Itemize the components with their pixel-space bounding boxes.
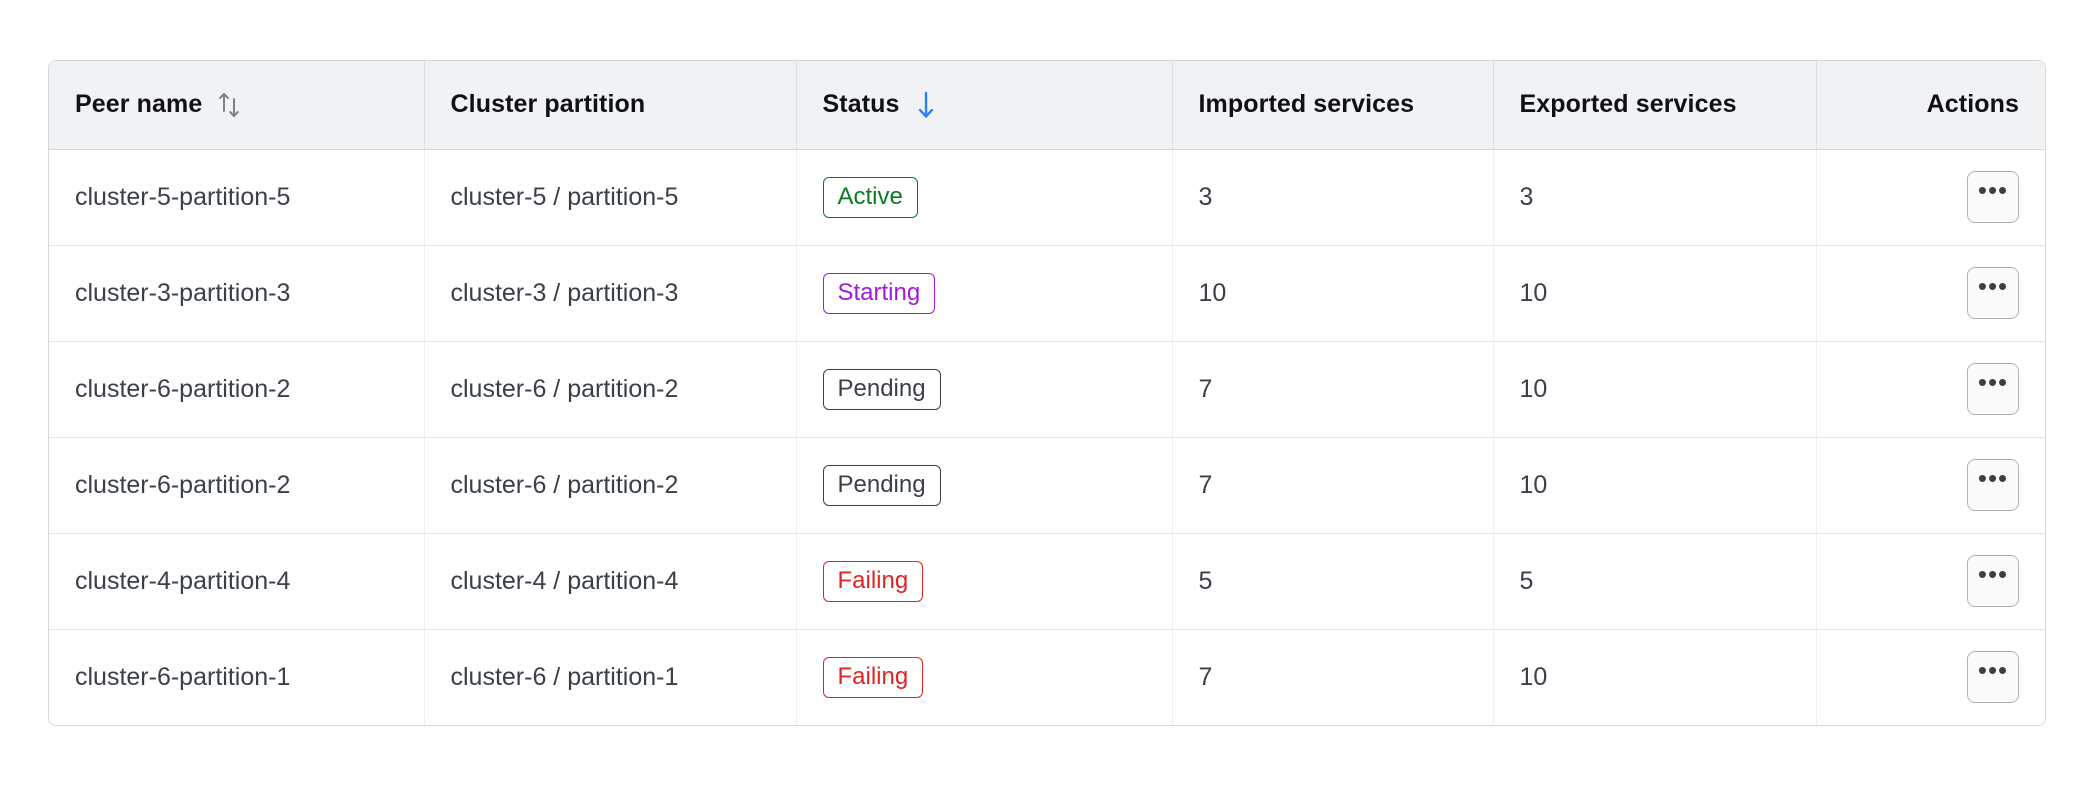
cell-peer-name-text: cluster-6-partition-2	[75, 375, 290, 403]
table-row[interactable]: cluster-5-partition-5cluster-5 / partiti…	[49, 149, 2045, 245]
cell-status: Pending	[796, 437, 1172, 533]
cell-imported-services-text: 7	[1199, 663, 1213, 691]
cell-status: Failing	[796, 533, 1172, 629]
peers-table-container: Peer name	[48, 60, 2046, 726]
row-actions-button[interactable]: •••	[1967, 555, 2019, 607]
cell-cluster-partition: cluster-3 / partition-3	[424, 245, 796, 341]
column-header-imported-services[interactable]: Imported services	[1172, 61, 1493, 149]
cell-cluster-partition: cluster-4 / partition-4	[424, 533, 796, 629]
more-horizontal-icon: •••	[1978, 473, 2008, 483]
cell-cluster-partition-text: cluster-6 / partition-2	[451, 471, 679, 499]
cell-actions: •••	[1816, 533, 2045, 629]
cell-exported-services: 5	[1493, 533, 1816, 629]
cell-peer-name: cluster-6-partition-2	[49, 341, 424, 437]
cell-cluster-partition: cluster-6 / partition-1	[424, 629, 796, 725]
status-badge: Pending	[823, 465, 941, 506]
row-actions-button[interactable]: •••	[1967, 651, 2019, 703]
table-row[interactable]: cluster-6-partition-2cluster-6 / partiti…	[49, 437, 2045, 533]
status-badge: Starting	[823, 273, 936, 314]
status-badge: Pending	[823, 369, 941, 410]
cell-imported-services-text: 3	[1199, 183, 1213, 211]
cell-status: Pending	[796, 341, 1172, 437]
cell-exported-services: 10	[1493, 437, 1816, 533]
column-header-exported-services[interactable]: Exported services	[1493, 61, 1816, 149]
cell-peer-name-text: cluster-6-partition-1	[75, 663, 290, 691]
cell-peer-name: cluster-6-partition-1	[49, 629, 424, 725]
cell-imported-services: 3	[1172, 149, 1493, 245]
column-header-cluster-partition[interactable]: Cluster partition	[424, 61, 796, 149]
column-header-label: Exported services	[1520, 90, 1737, 119]
cell-imported-services-text: 5	[1199, 567, 1213, 595]
cell-peer-name: cluster-3-partition-3	[49, 245, 424, 341]
cell-peer-name-text: cluster-3-partition-3	[75, 279, 290, 307]
cell-cluster-partition-text: cluster-3 / partition-3	[451, 279, 679, 307]
cell-exported-services-text: 10	[1520, 375, 1548, 403]
cell-exported-services: 3	[1493, 149, 1816, 245]
cell-actions: •••	[1816, 245, 2045, 341]
cell-imported-services: 7	[1172, 341, 1493, 437]
column-header-label: Imported services	[1199, 90, 1415, 119]
cell-imported-services-text: 10	[1199, 279, 1227, 307]
cell-peer-name-text: cluster-4-partition-4	[75, 567, 290, 595]
cell-exported-services-text: 10	[1520, 471, 1548, 499]
cell-imported-services-text: 7	[1199, 471, 1213, 499]
cell-imported-services: 10	[1172, 245, 1493, 341]
more-horizontal-icon: •••	[1978, 665, 2008, 675]
cell-cluster-partition: cluster-6 / partition-2	[424, 341, 796, 437]
cell-actions: •••	[1816, 149, 2045, 245]
column-header-actions: Actions	[1816, 61, 2045, 149]
cell-exported-services: 10	[1493, 245, 1816, 341]
more-horizontal-icon: •••	[1978, 377, 2008, 387]
cell-peer-name-text: cluster-6-partition-2	[75, 471, 290, 499]
status-badge: Failing	[823, 561, 924, 602]
cell-exported-services-text: 10	[1520, 279, 1548, 307]
sort-ascending-descending-icon[interactable]	[216, 90, 242, 120]
column-header-label: Cluster partition	[451, 90, 646, 119]
arrow-down-icon[interactable]	[914, 89, 938, 121]
cell-status: Active	[796, 149, 1172, 245]
row-actions-button[interactable]: •••	[1967, 363, 2019, 415]
row-actions-button[interactable]: •••	[1967, 267, 2019, 319]
cell-exported-services: 10	[1493, 629, 1816, 725]
row-actions-button[interactable]: •••	[1967, 171, 2019, 223]
column-header-label: Actions	[1927, 90, 2019, 119]
column-header-status[interactable]: Status	[796, 61, 1172, 149]
more-horizontal-icon: •••	[1978, 569, 2008, 579]
cell-exported-services-text: 10	[1520, 663, 1548, 691]
cell-peer-name: cluster-4-partition-4	[49, 533, 424, 629]
row-actions-button[interactable]: •••	[1967, 459, 2019, 511]
cell-cluster-partition: cluster-6 / partition-2	[424, 437, 796, 533]
column-header-label: Status	[823, 90, 900, 119]
cell-actions: •••	[1816, 437, 2045, 533]
peers-table: Peer name	[49, 61, 2045, 725]
cell-cluster-partition-text: cluster-6 / partition-2	[451, 375, 679, 403]
cell-cluster-partition: cluster-5 / partition-5	[424, 149, 796, 245]
cell-imported-services: 5	[1172, 533, 1493, 629]
cell-peer-name: cluster-6-partition-2	[49, 437, 424, 533]
cell-peer-name-text: cluster-5-partition-5	[75, 183, 290, 211]
cell-cluster-partition-text: cluster-5 / partition-5	[451, 183, 679, 211]
peers-table-page: Peer name	[0, 0, 2096, 808]
cell-exported-services-text: 3	[1520, 183, 1534, 211]
cell-cluster-partition-text: cluster-6 / partition-1	[451, 663, 679, 691]
cell-peer-name: cluster-5-partition-5	[49, 149, 424, 245]
status-badge: Failing	[823, 657, 924, 698]
table-body: cluster-5-partition-5cluster-5 / partiti…	[49, 149, 2045, 725]
table-header: Peer name	[49, 61, 2045, 149]
cell-cluster-partition-text: cluster-4 / partition-4	[451, 567, 679, 595]
cell-exported-services: 10	[1493, 341, 1816, 437]
table-row[interactable]: cluster-6-partition-1cluster-6 / partiti…	[49, 629, 2045, 725]
more-horizontal-icon: •••	[1978, 281, 2008, 291]
column-header-peer-name[interactable]: Peer name	[49, 61, 424, 149]
cell-exported-services-text: 5	[1520, 567, 1534, 595]
cell-imported-services-text: 7	[1199, 375, 1213, 403]
column-header-label: Peer name	[75, 90, 202, 119]
cell-actions: •••	[1816, 341, 2045, 437]
table-row[interactable]: cluster-4-partition-4cluster-4 / partiti…	[49, 533, 2045, 629]
table-header-row: Peer name	[49, 61, 2045, 149]
cell-imported-services: 7	[1172, 629, 1493, 725]
table-row[interactable]: cluster-6-partition-2cluster-6 / partiti…	[49, 341, 2045, 437]
cell-actions: •••	[1816, 629, 2045, 725]
table-row[interactable]: cluster-3-partition-3cluster-3 / partiti…	[49, 245, 2045, 341]
cell-imported-services: 7	[1172, 437, 1493, 533]
cell-status: Failing	[796, 629, 1172, 725]
cell-status: Starting	[796, 245, 1172, 341]
more-horizontal-icon: •••	[1978, 185, 2008, 195]
status-badge: Active	[823, 177, 918, 218]
